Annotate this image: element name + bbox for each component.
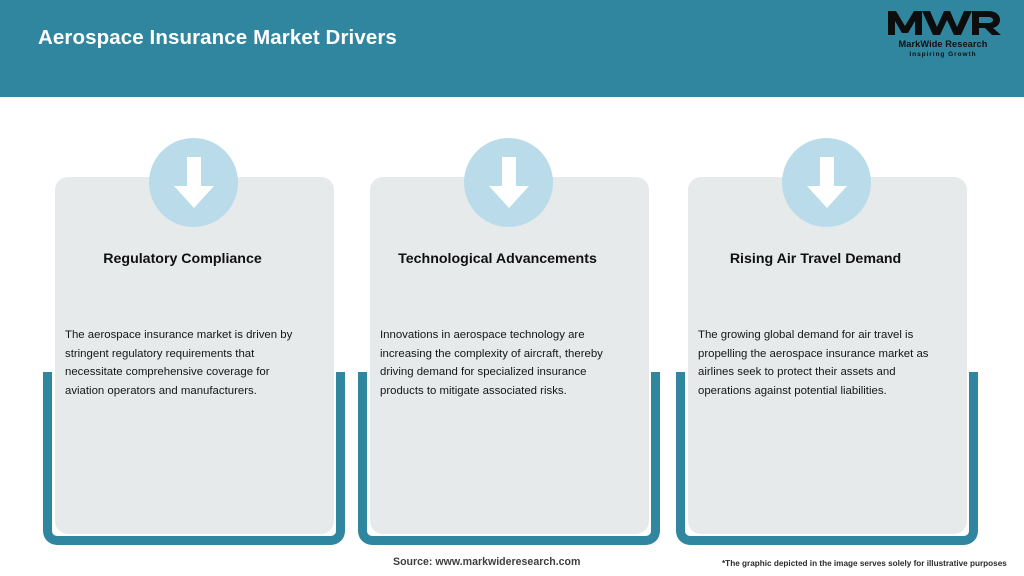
card-title: Technological Advancements (370, 250, 625, 268)
brand-tagline: Inspiring Growth (884, 50, 1002, 59)
card-body: Innovations in aerospace technology are … (380, 326, 625, 400)
brand-name: MarkWide Research (884, 39, 1002, 50)
page-header: Aerospace Insurance Market Drivers MarkW… (0, 0, 1024, 97)
mwr-monogram-icon (884, 8, 1002, 38)
driver-card: Technological Advancements Innovations i… (358, 97, 658, 537)
source-label: Source: www.markwideresearch.com (393, 556, 580, 568)
drivers-card-row: Regulatory Compliance The aerospace insu… (0, 97, 1024, 537)
arrow-down-icon (149, 138, 238, 227)
brand-logo: MarkWide Research Inspiring Growth (884, 8, 1002, 64)
disclaimer-note: *The graphic depicted in the image serve… (722, 559, 1007, 568)
card-title: Regulatory Compliance (55, 250, 310, 268)
page-title: Aerospace Insurance Market Drivers (38, 26, 397, 50)
card-body: The aerospace insurance market is driven… (65, 326, 310, 400)
card-title: Rising Air Travel Demand (688, 250, 943, 268)
card-body: The growing global demand for air travel… (698, 326, 943, 400)
arrow-down-icon (464, 138, 553, 227)
driver-card: Regulatory Compliance The aerospace insu… (43, 97, 343, 537)
driver-card: Rising Air Travel Demand The growing glo… (676, 97, 976, 537)
arrow-down-icon (782, 138, 871, 227)
